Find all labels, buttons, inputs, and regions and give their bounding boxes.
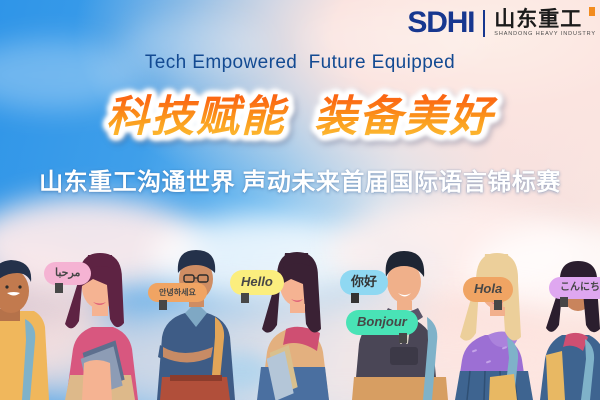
logo-chinese-name: 山东重工 xyxy=(494,9,596,30)
speech-bubble-french: Bonjour xyxy=(346,310,418,335)
sdhi-logo: SDHI 山东重工 SHANDONG HEAVY INDUSTRY xyxy=(407,8,596,38)
headline-chinese-main: 科技赋能 装备美好 xyxy=(0,82,600,144)
person-6 xyxy=(455,253,533,400)
logo-divider xyxy=(483,10,485,37)
speech-bubble-korean: 안녕하세요 xyxy=(148,283,207,302)
logo-wordmark: SDHI xyxy=(407,8,474,38)
poster-banner: SDHI 山东重工 SHANDONG HEAVY INDUSTRY Tech E… xyxy=(0,0,600,400)
speech-bubble-arabic: مرحبا xyxy=(44,262,91,285)
people-illustration xyxy=(0,235,600,400)
person-1 xyxy=(0,260,49,400)
person-3 xyxy=(157,250,235,400)
speech-bubble-english: Hello xyxy=(230,270,284,295)
logo-chinese-subtitle: SHANDONG HEAVY INDUSTRY xyxy=(494,32,596,38)
logo-orange-dot-icon xyxy=(589,7,595,16)
headline-english: Tech Empowered Future Equipped xyxy=(0,52,600,74)
headline-block: Tech Empowered Future Equipped 科技赋能 装备美好… xyxy=(0,52,600,197)
logo-chinese-block: 山东重工 SHANDONG HEAVY INDUSTRY xyxy=(494,9,596,38)
speech-bubble-spanish: Hola xyxy=(463,277,513,302)
speech-bubble-chinese: 你好 xyxy=(340,270,388,295)
speech-bubble-japanese: こんにちは xyxy=(549,277,600,299)
headline-chinese-subtitle: 山东重工沟通世界 声动未来首届国际语言锦标赛 xyxy=(0,162,600,197)
